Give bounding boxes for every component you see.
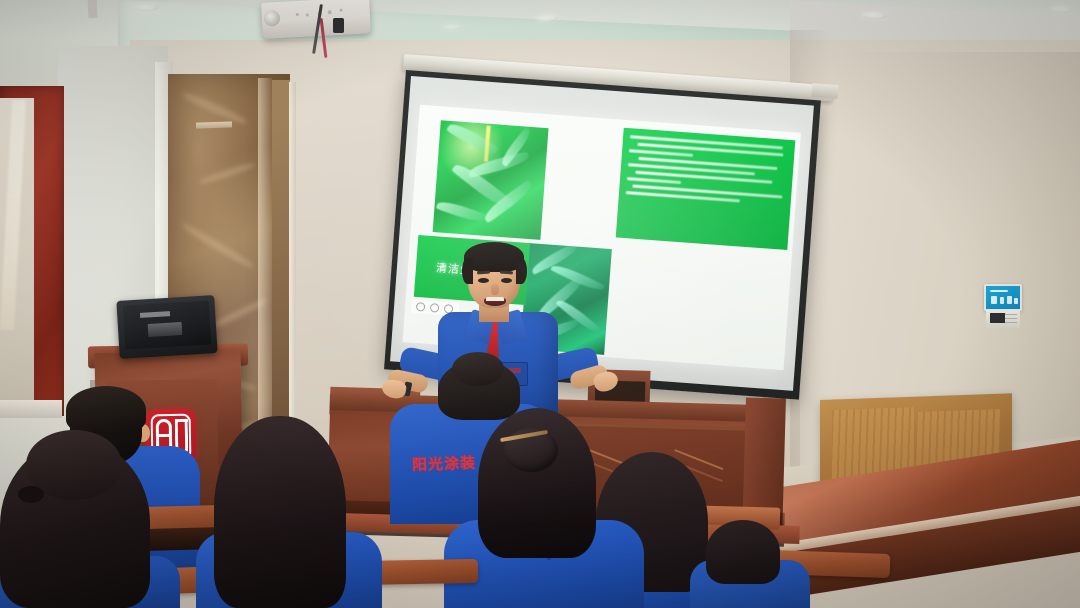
projector-control-icon xyxy=(328,10,332,14)
presenter-nose xyxy=(491,284,499,295)
projector-control-icon xyxy=(340,9,343,12)
column-side-strip xyxy=(272,80,290,452)
presenter-eye-right xyxy=(501,278,512,283)
attendee-far-right-hair xyxy=(706,520,780,584)
projector-lens-icon xyxy=(264,10,281,27)
presenter-hair-left xyxy=(462,258,473,284)
logo-letter-b-bar xyxy=(158,434,170,437)
conference-room-photo: 清洁生产措施 xyxy=(0,0,1080,608)
presenter-hair-right xyxy=(516,258,527,284)
ac-control-panel[interactable] xyxy=(984,284,1022,311)
slide-image-bamboo xyxy=(433,120,549,240)
screen-roller-endcap xyxy=(812,83,839,99)
projector-control-icon xyxy=(306,13,309,16)
ceiling-light-icon xyxy=(442,24,462,30)
ac-panel-display xyxy=(990,313,1005,323)
projector-ceiling-mount xyxy=(87,0,97,18)
presenter-eye-left xyxy=(478,278,489,283)
presenter-hair xyxy=(464,242,524,272)
column-wall-slot xyxy=(196,121,232,128)
attendee-ponytail-hair xyxy=(214,416,346,608)
slide-body-block xyxy=(616,128,796,250)
column-trim xyxy=(289,82,296,452)
ceiling-light-icon xyxy=(133,4,159,11)
attendee-center-hair-top xyxy=(452,352,504,386)
attendee-left-hair xyxy=(66,386,146,434)
presenter-teeth xyxy=(486,297,504,301)
column-highlight xyxy=(258,78,272,453)
monitor-sticker xyxy=(148,322,183,337)
logo-letter-j-top xyxy=(175,419,188,422)
attendee-hair-tie xyxy=(18,486,44,503)
projector-connector-box xyxy=(333,18,344,33)
projector-control-icon xyxy=(296,13,299,16)
